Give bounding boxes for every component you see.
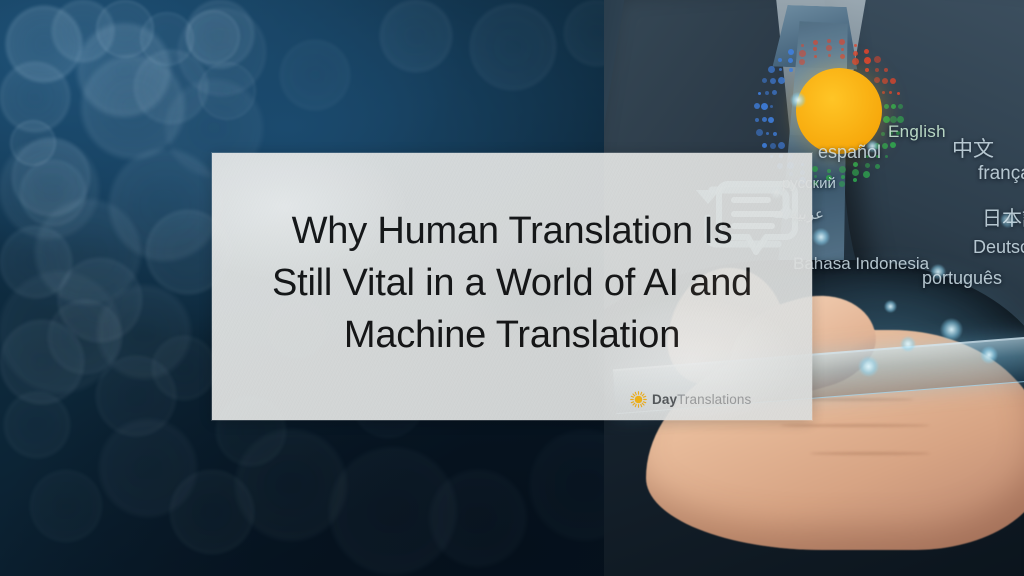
- halo-dot: [841, 48, 844, 51]
- halo-dot: [814, 55, 817, 58]
- halo-dot: [865, 163, 870, 168]
- halo-dot: [762, 78, 767, 83]
- language-label: 日本語: [982, 202, 1024, 231]
- halo-dot: [891, 104, 896, 109]
- light-sparkle: [858, 356, 879, 377]
- halo-dot: [779, 68, 782, 71]
- halo-dot: [874, 77, 880, 83]
- brand-name: DayTranslations: [652, 393, 751, 407]
- halo-dot: [770, 143, 776, 149]
- language-label: 中文: [952, 133, 994, 163]
- brand-name-regular: Translations: [677, 392, 751, 407]
- halo-dot: [884, 104, 889, 109]
- halo-dot: [762, 143, 767, 148]
- halo-dot: [768, 117, 774, 123]
- halo-dot: [778, 58, 782, 62]
- halo-dot: [762, 117, 767, 122]
- halo-dot: [889, 91, 892, 94]
- halo-dot: [885, 155, 888, 158]
- page-title: Why Human Translation Is Still Vital in …: [238, 205, 786, 361]
- title-line-1: Why Human Translation Is: [238, 205, 786, 257]
- halo-dot: [853, 51, 858, 56]
- sun-icon: [630, 391, 647, 408]
- halo-dot: [828, 54, 831, 57]
- halo-dot: [789, 68, 793, 72]
- slide-canvas: Englishespañol中文русскийfrançaisعربية日本語B…: [0, 0, 1024, 576]
- halo-dot: [882, 143, 888, 149]
- halo-dot: [813, 47, 817, 51]
- halo-dot: [766, 132, 769, 135]
- halo-dot: [839, 181, 845, 187]
- halo-dot: [863, 171, 870, 178]
- halo-dot: [874, 56, 881, 63]
- language-label: Bahasa Indonesia: [793, 254, 929, 274]
- halo-dot: [864, 57, 871, 64]
- halo-dot: [812, 166, 818, 172]
- halo-dot: [799, 50, 806, 57]
- halo-dot: [881, 132, 885, 136]
- language-label: français: [978, 163, 1024, 185]
- halo-dot: [770, 105, 773, 108]
- halo-dot: [826, 45, 832, 51]
- halo-dot: [864, 49, 869, 54]
- halo-dot: [755, 118, 759, 122]
- title-card: Why Human Translation Is Still Vital in …: [212, 153, 812, 420]
- halo-dot: [827, 169, 831, 173]
- halo-dot: [882, 91, 885, 94]
- halo-dot: [770, 78, 776, 84]
- halo-dot: [788, 49, 794, 55]
- halo-dot: [772, 90, 777, 95]
- halo-dot: [852, 169, 859, 176]
- halo-dot: [884, 68, 888, 72]
- brand-logo: DayTranslations: [630, 391, 751, 408]
- halo-dot: [882, 78, 888, 84]
- title-line-2: Still Vital in a World of AI and: [238, 257, 786, 309]
- finger-crease: [780, 424, 930, 427]
- halo-dot: [765, 91, 769, 95]
- light-sparkle: [884, 300, 897, 313]
- language-label: Deutsch: [973, 237, 1024, 258]
- halo-dot: [768, 66, 775, 73]
- halo-dot: [778, 77, 785, 84]
- halo-dot: [840, 54, 845, 59]
- light-sparkle: [900, 336, 916, 352]
- title-line-3: Machine Translation: [238, 309, 786, 361]
- language-label: español: [818, 142, 881, 163]
- halo-dot: [788, 58, 793, 63]
- halo-dot: [839, 166, 846, 173]
- finger-crease: [810, 452, 930, 455]
- halo-dot: [897, 92, 900, 95]
- halo-dot: [865, 68, 869, 72]
- light-sparkle: [790, 92, 806, 108]
- halo-dot: [875, 164, 880, 169]
- halo-dot: [761, 103, 768, 110]
- halo-dot: [778, 142, 785, 149]
- halo-dot: [875, 68, 879, 72]
- halo-dot: [852, 58, 859, 65]
- halo-dot: [827, 39, 831, 43]
- halo-dot: [773, 132, 777, 136]
- language-label: English: [888, 122, 946, 142]
- halo-dot: [799, 59, 805, 65]
- language-label: português: [922, 268, 1002, 289]
- halo-dot: [841, 175, 845, 179]
- brand-name-bold: Day: [652, 392, 677, 407]
